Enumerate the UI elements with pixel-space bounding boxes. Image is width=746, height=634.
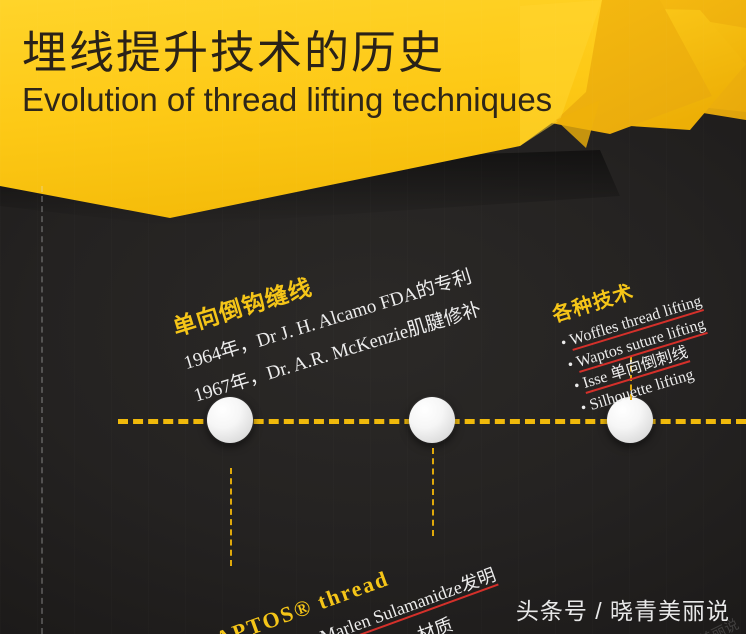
timeline-node-2[interactable] — [409, 397, 455, 443]
timeline-node-1[interactable] — [207, 397, 253, 443]
title-block: 埋线提升技术的历史 Evolution of thread lifting te… — [22, 26, 582, 120]
slide-canvas: 埋线提升技术的历史 Evolution of thread lifting te… — [0, 0, 746, 634]
left-dashed-rule — [41, 186, 43, 634]
connector-node-1-down — [230, 468, 232, 566]
watermark-text: 头条号 / 晓青美丽说 — [516, 592, 730, 626]
annotation-various-techniques: 各种技术 Woffles thread lifting Waptos sutur… — [548, 257, 725, 420]
annotation-aptos-thread: APTOS® thread 1998年，Dr. Marlen Sulamanid… — [212, 531, 521, 634]
connector-node-2-down — [432, 448, 434, 536]
annotation-barbed-suture: 单向倒钩缝线 1964年，Dr J. H. Alcamo FDA的专利 1967… — [168, 222, 485, 407]
page-title-cn: 埋线提升技术的历史 — [22, 26, 582, 79]
page-title-en: Evolution of thread lifting techniques — [22, 81, 582, 120]
